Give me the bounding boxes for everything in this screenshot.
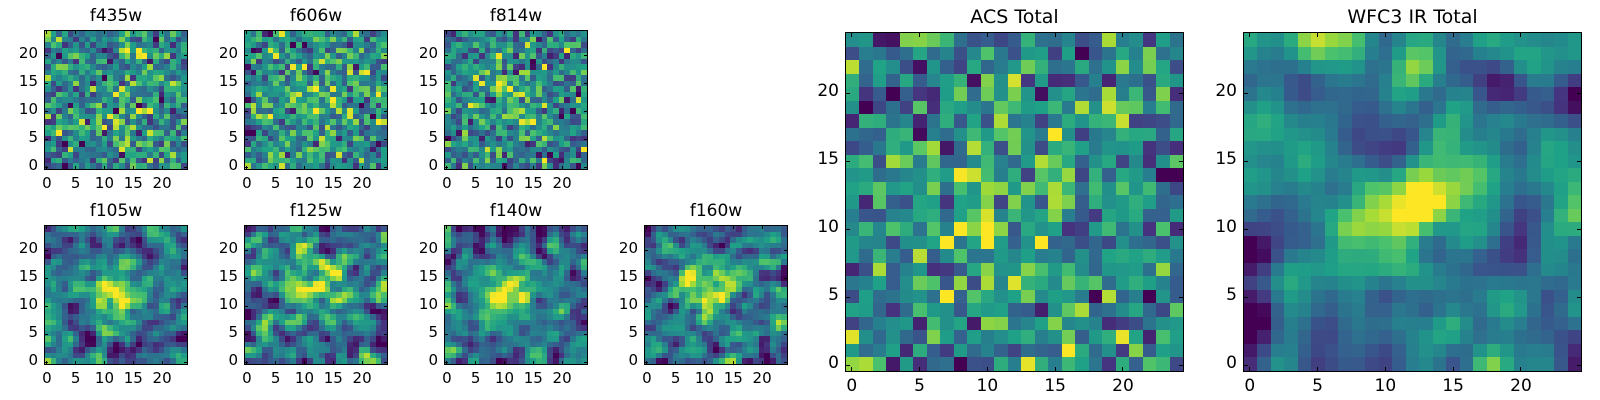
heatmap-pixel [846, 182, 859, 196]
x-tick-top-f105w-0 [46, 225, 47, 229]
heatmap-pixel [1170, 33, 1183, 47]
y-tick-f140w-15 [444, 278, 448, 279]
heatmap-pixel [1129, 101, 1142, 115]
heatmap-pixel [1129, 195, 1142, 209]
y-ticklabel-f105w-0: 0 [0, 351, 38, 369]
heatmap-pixel [1035, 74, 1048, 88]
heatmap-pixel [954, 236, 967, 250]
y-ticklabel-f606w-10: 10 [180, 100, 238, 118]
y-tick-right-f160w-20 [784, 250, 788, 251]
heatmap-pixel [1062, 128, 1075, 142]
heatmap-pixel [1102, 168, 1115, 182]
heatmap-pixel [1075, 195, 1088, 209]
heatmap-pixel [1062, 222, 1075, 236]
heatmap-pixel [1075, 182, 1088, 196]
x-tick-top-f160w-10 [704, 225, 705, 229]
x-tick-top-f606w-5 [275, 30, 276, 34]
heatmap-pixel [1089, 114, 1102, 128]
heatmap-pixel [954, 128, 967, 142]
heatmap-pixel [1116, 101, 1129, 115]
heatmap-pixel [981, 114, 994, 128]
heatmap-pixel [1008, 141, 1021, 155]
heatmap-pixel [994, 155, 1007, 169]
heatmap-pixel [1129, 33, 1142, 47]
heatmap-pixel [1170, 168, 1183, 182]
heatmap-pixel [1062, 47, 1075, 61]
heatmap-pixel [900, 195, 913, 209]
y-tick-f125w-5 [244, 334, 248, 335]
heatmap-pixel [873, 236, 886, 250]
heatmap-pixel [981, 195, 994, 209]
heatmap-pixel [1116, 114, 1129, 128]
heatmap-pixel [900, 209, 913, 223]
heatmap-pixel [1008, 101, 1021, 115]
x-tick-f606w-10 [304, 166, 305, 170]
x-tick-f160w-5 [675, 361, 676, 365]
y-ticklabel-f125w-15: 15 [180, 267, 238, 285]
heatmap-pixel [1116, 141, 1129, 155]
heatmap-pixel [1089, 60, 1102, 74]
heatmap-pixel [967, 74, 980, 88]
heatmap-pixel [886, 209, 899, 223]
heatmap-pixel [940, 222, 953, 236]
x-tick-top-f160w-20 [762, 225, 763, 229]
heatmap-pixel [927, 114, 940, 128]
heatmap-pixel [846, 74, 859, 88]
heatmap-pixel [846, 141, 859, 155]
heatmap-pixel [967, 101, 980, 115]
heatmap-pixel [1129, 155, 1142, 169]
heatmap-pixel [846, 236, 859, 250]
heatmap-pixel [940, 155, 953, 169]
heatmap-pixel [1156, 87, 1169, 101]
heatmap-pixel [1170, 101, 1183, 115]
heatmap-pixel [1116, 222, 1129, 236]
heatmap-pixel [994, 209, 1007, 223]
x-tick-top-f606w-0 [246, 30, 247, 34]
heatmap-pixel [954, 182, 967, 196]
heatmap-pixel [846, 128, 859, 142]
y-ticklabel-f606w-5: 5 [180, 128, 238, 146]
figure-canvas: f435w0510152005101520f606w05101520051015… [0, 0, 1600, 400]
heatmap-pixel [994, 222, 1007, 236]
heatmap-pixel [1062, 209, 1075, 223]
heatmap-pixels-f105w [45, 226, 187, 364]
heatmap-pixel [1008, 128, 1021, 142]
x-tick-top-f125w-20 [362, 225, 363, 229]
heatmap-pixel [873, 128, 886, 142]
heatmap-pixel [1102, 195, 1115, 209]
panel-title-f814w: f814w [404, 6, 628, 26]
x-tick-top-f160w-5 [675, 225, 676, 229]
y-ticklabel-f160w-15: 15 [580, 267, 638, 285]
y-ticklabel-f814w-5: 5 [380, 128, 438, 146]
heatmap-pixel [994, 114, 1007, 128]
heatmap-pixel [981, 141, 994, 155]
heatmap-pixel [1116, 60, 1129, 74]
heatmap-pixel [1021, 222, 1034, 236]
heatmap-pixel [873, 141, 886, 155]
heatmap-pixel [967, 155, 980, 169]
heatmap-pixel [1116, 87, 1129, 101]
y-tick-f606w-0 [244, 167, 248, 168]
x-tick-f125w-5 [275, 361, 276, 365]
heatmap-pixel [954, 114, 967, 128]
heatmap-pixel [859, 195, 872, 209]
heatmap-pixel [1143, 168, 1156, 182]
heatmap-pixel [1062, 141, 1075, 155]
heatmap-pixel [927, 195, 940, 209]
heatmap-pixel [900, 182, 913, 196]
x-tick-f105w-5 [75, 361, 76, 365]
heatmap-pixel [1143, 155, 1156, 169]
heatmap-pixel [940, 47, 953, 61]
heatmap-pixel [859, 114, 872, 128]
x-tick-top-f125w-5 [275, 225, 276, 229]
heatmap-pixel [1035, 222, 1048, 236]
heatmap-pixel [859, 47, 872, 61]
heatmap-pixel [927, 155, 940, 169]
heatmap-pixel [1102, 87, 1115, 101]
y-ticklabel-f125w-0: 0 [180, 351, 238, 369]
y-ticklabel-f435w-0: 0 [0, 156, 38, 174]
heatmap-pixel [954, 209, 967, 223]
heatmap-pixel [873, 74, 886, 88]
x-tick-top-f160w-0 [646, 225, 647, 229]
y-tick-f105w-10 [44, 306, 48, 307]
heatmap-pixels-f140w [445, 226, 587, 364]
heatmap-pixel [1102, 141, 1115, 155]
heatmap-pixel [981, 101, 994, 115]
x-tick-f435w-10 [104, 166, 105, 170]
x-tick-f814w-10 [504, 166, 505, 170]
heatmap-pixel [940, 128, 953, 142]
y-ticklabel-f435w-15: 15 [0, 72, 38, 90]
heatmap-pixel [1129, 141, 1142, 155]
panel-title-f606w: f606w [204, 6, 428, 26]
heatmap-pixel [927, 168, 940, 182]
heatmap-pixel [1089, 141, 1102, 155]
heatmap-pixel [900, 168, 913, 182]
x-ticklabel-f125w-20: 20 [332, 369, 392, 387]
x-tick-f105w-20 [162, 361, 163, 365]
x-tick-top-f140w-15 [533, 225, 534, 229]
image-axes-f140w [444, 225, 588, 365]
heatmap-pixel [1075, 155, 1088, 169]
y-tick-f125w-10 [244, 306, 248, 307]
y-ticklabel-f435w-5: 5 [0, 128, 38, 146]
image-axes-f125w [244, 225, 388, 365]
heatmap-pixel [886, 222, 899, 236]
heatmap-pixel [1143, 74, 1156, 88]
heatmap-pixel [1102, 182, 1115, 196]
y-tick-right-f160w-5 [784, 334, 788, 335]
heatmap-pixel [1116, 74, 1129, 88]
heatmap-pixel [886, 141, 899, 155]
heatmap-pixel [1035, 141, 1048, 155]
y-tick-f814w-5 [444, 139, 448, 140]
heatmap-pixel [967, 168, 980, 182]
heatmap-pixel [927, 141, 940, 155]
heatmap-pixel [1089, 182, 1102, 196]
x-tick-top-f606w-10 [304, 30, 305, 34]
heatmap-pixel [859, 222, 872, 236]
heatmap-pixel [1156, 141, 1169, 155]
heatmap-pixel [940, 168, 953, 182]
x-tick-f125w-15 [333, 361, 334, 365]
y-ticklabel-f125w-5: 5 [180, 323, 238, 341]
heatmap-pixel [846, 114, 859, 128]
heatmap-pixel [1089, 209, 1102, 223]
heatmap-pixel [859, 209, 872, 223]
y-tick-f814w-10 [444, 111, 448, 112]
heatmap-pixel [1129, 168, 1142, 182]
heatmap-pixel [1129, 74, 1142, 88]
heatmap-pixel [1129, 222, 1142, 236]
heatmap-pixel [1062, 101, 1075, 115]
image-axes-f814w [444, 30, 588, 170]
heatmap-pixel [1075, 141, 1088, 155]
x-tick-top-f105w-10 [104, 225, 105, 229]
heatmap-pixel [873, 209, 886, 223]
x-tick-top-f606w-15 [333, 30, 334, 34]
heatmap-pixel [1021, 209, 1034, 223]
heatmap-pixel [886, 47, 899, 61]
heatmap-pixel [1143, 195, 1156, 209]
heatmap-pixel [954, 195, 967, 209]
y-tick-f105w-0 [44, 362, 48, 363]
heatmap-pixel [940, 209, 953, 223]
heatmap-pixel [927, 182, 940, 196]
x-tick-top-f140w-20 [562, 225, 563, 229]
heatmap-pixel [940, 101, 953, 115]
heatmap-pixel [1075, 222, 1088, 236]
heatmap-pixel [1170, 128, 1183, 142]
heatmap-pixel [913, 195, 926, 209]
heatmap-pixel [1156, 222, 1169, 236]
heatmap-pixel [1035, 60, 1048, 74]
heatmap-pixel [994, 87, 1007, 101]
heatmap-pixel [967, 236, 980, 250]
heatmap-pixel [967, 87, 980, 101]
heatmap-pixel [1143, 209, 1156, 223]
heatmap-pixel [1156, 155, 1169, 169]
heatmap-pixel [900, 74, 913, 88]
heatmap-pixel [1048, 128, 1061, 142]
heatmap-pixel [846, 168, 859, 182]
heatmap-pixel [1089, 155, 1102, 169]
heatmap-pixel [1089, 168, 1102, 182]
heatmap-pixel [940, 87, 953, 101]
x-tick-top-f435w-0 [46, 30, 47, 34]
x-tick-f105w-15 [133, 361, 134, 365]
heatmap-pixel [1075, 128, 1088, 142]
heatmap-pixel [913, 141, 926, 155]
y-tick-right-f160w-15 [784, 278, 788, 279]
heatmap-pixel [994, 33, 1007, 47]
x-tick-f435w-15 [133, 166, 134, 170]
image-axes-f606w [244, 30, 388, 170]
heatmap-pixel [846, 87, 859, 101]
heatmap-pixel [900, 60, 913, 74]
heatmap-pixel [1062, 114, 1075, 128]
heatmap-pixel [981, 155, 994, 169]
heatmap-pixel [1008, 155, 1021, 169]
heatmap-pixel [1116, 209, 1129, 223]
panel-title-f140w: f140w [404, 201, 628, 221]
heatmap-pixel [1008, 222, 1021, 236]
heatmap-pixel [1075, 114, 1088, 128]
heatmap-pixel [981, 128, 994, 142]
heatmap-pixel [1156, 168, 1169, 182]
heatmap-pixel [1035, 101, 1048, 115]
heatmap-pixel [1156, 209, 1169, 223]
x-tick-f140w-10 [504, 361, 505, 365]
x-tick-top-f814w-20 [562, 30, 563, 34]
heatmap-pixel [940, 74, 953, 88]
heatmap-pixel [886, 168, 899, 182]
heatmap-pixel [900, 87, 913, 101]
heatmap-pixel [873, 195, 886, 209]
heatmap-pixel [859, 168, 872, 182]
heatmap-pixel [1075, 33, 1088, 47]
heatmap-pixel [967, 33, 980, 47]
heatmap-pixel [846, 209, 859, 223]
heatmap-pixel [859, 74, 872, 88]
y-ticklabel-f140w-20: 20 [380, 239, 438, 257]
heatmap-pixel [1116, 128, 1129, 142]
heatmap-pixel [981, 87, 994, 101]
heatmap-pixel [1048, 209, 1061, 223]
x-tick-top-f105w-5 [75, 225, 76, 229]
heatmap-pixels-f435w [45, 31, 187, 169]
y-ticklabel-f160w-10: 10 [580, 295, 638, 313]
heatmap-pixel [886, 33, 899, 47]
y-ticklabel-f606w-15: 15 [180, 72, 238, 90]
heatmap-pixel [1170, 195, 1183, 209]
heatmap-pixel [1048, 182, 1061, 196]
y-tick-f125w-20 [244, 250, 248, 251]
heatmap-pixel [1008, 168, 1021, 182]
heatmap-pixel [1089, 87, 1102, 101]
x-tick-top-f435w-10 [104, 30, 105, 34]
heatmap-pixel [1143, 128, 1156, 142]
heatmap-pixel [981, 74, 994, 88]
heatmap-pixel [1089, 74, 1102, 88]
heatmap-pixel [940, 236, 953, 250]
y-tick-right-f160w-10 [784, 306, 788, 307]
heatmap-pixels-f814w [445, 31, 587, 169]
heatmap-pixel [1129, 47, 1142, 61]
y-ticklabel-f814w-10: 10 [380, 100, 438, 118]
heatmap-pixels-acs_total [846, 33, 1183, 371]
y-tick-f160w-15 [644, 278, 648, 279]
x-tick-f160w-15 [733, 361, 734, 365]
heatmap-pixel [1062, 60, 1075, 74]
heatmap-pixel [954, 168, 967, 182]
heatmap-pixel [981, 60, 994, 74]
heatmap-pixel [940, 33, 953, 47]
heatmap-pixel [846, 195, 859, 209]
x-tick-top-f125w-10 [304, 225, 305, 229]
heatmap-pixel [1035, 209, 1048, 223]
heatmap-pixel [954, 222, 967, 236]
heatmap-pixel [846, 60, 859, 74]
heatmap-pixel [859, 33, 872, 47]
heatmap-pixel [1102, 101, 1115, 115]
x-ticklabel-f140w-20: 20 [532, 369, 592, 387]
heatmap-pixel [846, 33, 859, 47]
heatmap-pixel [873, 114, 886, 128]
heatmap-pixel [886, 155, 899, 169]
heatmap-pixel [927, 128, 940, 142]
heatmap-pixel [1048, 155, 1061, 169]
y-ticklabel-f435w-10: 10 [0, 100, 38, 118]
y-tick-f606w-10 [244, 111, 248, 112]
x-tick-top-f814w-15 [533, 30, 534, 34]
y-tick-f435w-20 [44, 55, 48, 56]
heatmap-pixel [1143, 101, 1156, 115]
heatmap-pixel [927, 222, 940, 236]
heatmap-pixel [967, 195, 980, 209]
heatmap-pixel [1021, 47, 1034, 61]
y-ticklabel-f105w-5: 5 [0, 323, 38, 341]
heatmap-pixel [927, 101, 940, 115]
x-tick-f814w-15 [533, 166, 534, 170]
heatmap-pixel [1035, 168, 1048, 182]
heatmap-pixel [873, 101, 886, 115]
heatmap-pixel [1129, 209, 1142, 223]
heatmap-pixel [1170, 114, 1183, 128]
y-tick-f435w-15 [44, 83, 48, 84]
heatmap-pixel [1035, 155, 1048, 169]
x-tick-top-f140w-5 [475, 225, 476, 229]
x-tick-top-f140w-10 [504, 225, 505, 229]
heatmap-pixel [1143, 47, 1156, 61]
heatmap-pixel [1089, 195, 1102, 209]
heatmap-pixels-f606w [245, 31, 387, 169]
y-ticklabel-f140w-15: 15 [380, 267, 438, 285]
heatmap-pixel [1089, 128, 1102, 142]
x-tick-f435w-5 [75, 166, 76, 170]
heatmap-pixel [859, 101, 872, 115]
y-ticklabel-f606w-0: 0 [180, 156, 238, 174]
heatmap-pixel [981, 182, 994, 196]
heatmap-pixel [1116, 155, 1129, 169]
y-tick-f435w-5 [44, 139, 48, 140]
heatmap-pixel [1008, 114, 1021, 128]
heatmap-pixel [1102, 74, 1115, 88]
x-ticklabel-f435w-20: 20 [132, 174, 192, 192]
heatmap-pixel [900, 236, 913, 250]
heatmap-pixel [927, 74, 940, 88]
image-axes-f160w [644, 225, 788, 365]
x-tick-top-f606w-20 [362, 30, 363, 34]
heatmap-pixel [927, 87, 940, 101]
heatmap-pixel [954, 74, 967, 88]
heatmap-pixel [1008, 47, 1021, 61]
heatmap-pixel [1102, 209, 1115, 223]
x-tick-f160w-10 [704, 361, 705, 365]
heatmap-pixel [981, 209, 994, 223]
x-tick-f606w-5 [275, 166, 276, 170]
y-tick-f606w-20 [244, 55, 248, 56]
heatmap-pixel [1021, 101, 1034, 115]
heatmap-pixel [913, 114, 926, 128]
y-tick-f814w-20 [444, 55, 448, 56]
heatmap-pixel [1048, 60, 1061, 74]
heatmap-pixel [1116, 195, 1129, 209]
